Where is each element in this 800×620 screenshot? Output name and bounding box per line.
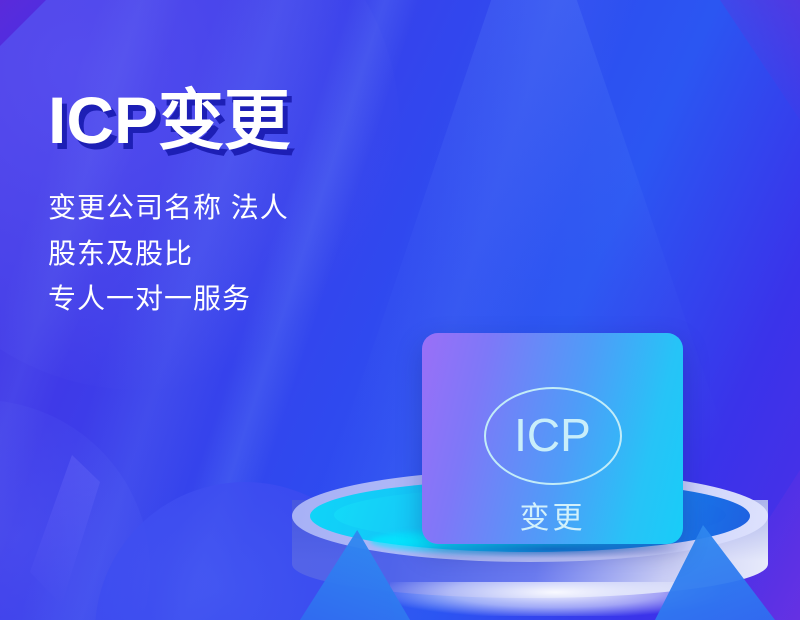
headline-block: ICP变更 变更公司名称 法人 股东及股比 专人一对一服务 bbox=[48, 86, 428, 321]
icp-badge-oval-icon: ICP bbox=[484, 387, 622, 485]
icp-badge-label: ICP bbox=[514, 412, 591, 458]
subtitle-line-1: 变更公司名称 法人 bbox=[48, 185, 428, 230]
card-caption: 变更 bbox=[422, 493, 683, 537]
icp-change-banner: ICP变更 变更公司名称 法人 股东及股比 专人一对一服务 ICP 变更 bbox=[0, 0, 800, 620]
page-title: ICP变更 bbox=[48, 86, 428, 155]
subtitle-block: 变更公司名称 法人 股东及股比 专人一对一服务 bbox=[48, 185, 428, 321]
corner-triangle-top-right bbox=[720, 0, 800, 120]
subtitle-line-3: 专人一对一服务 bbox=[48, 276, 428, 321]
icp-card: ICP 变更 bbox=[422, 333, 683, 544]
subtitle-line-2: 股东及股比 bbox=[48, 231, 428, 276]
